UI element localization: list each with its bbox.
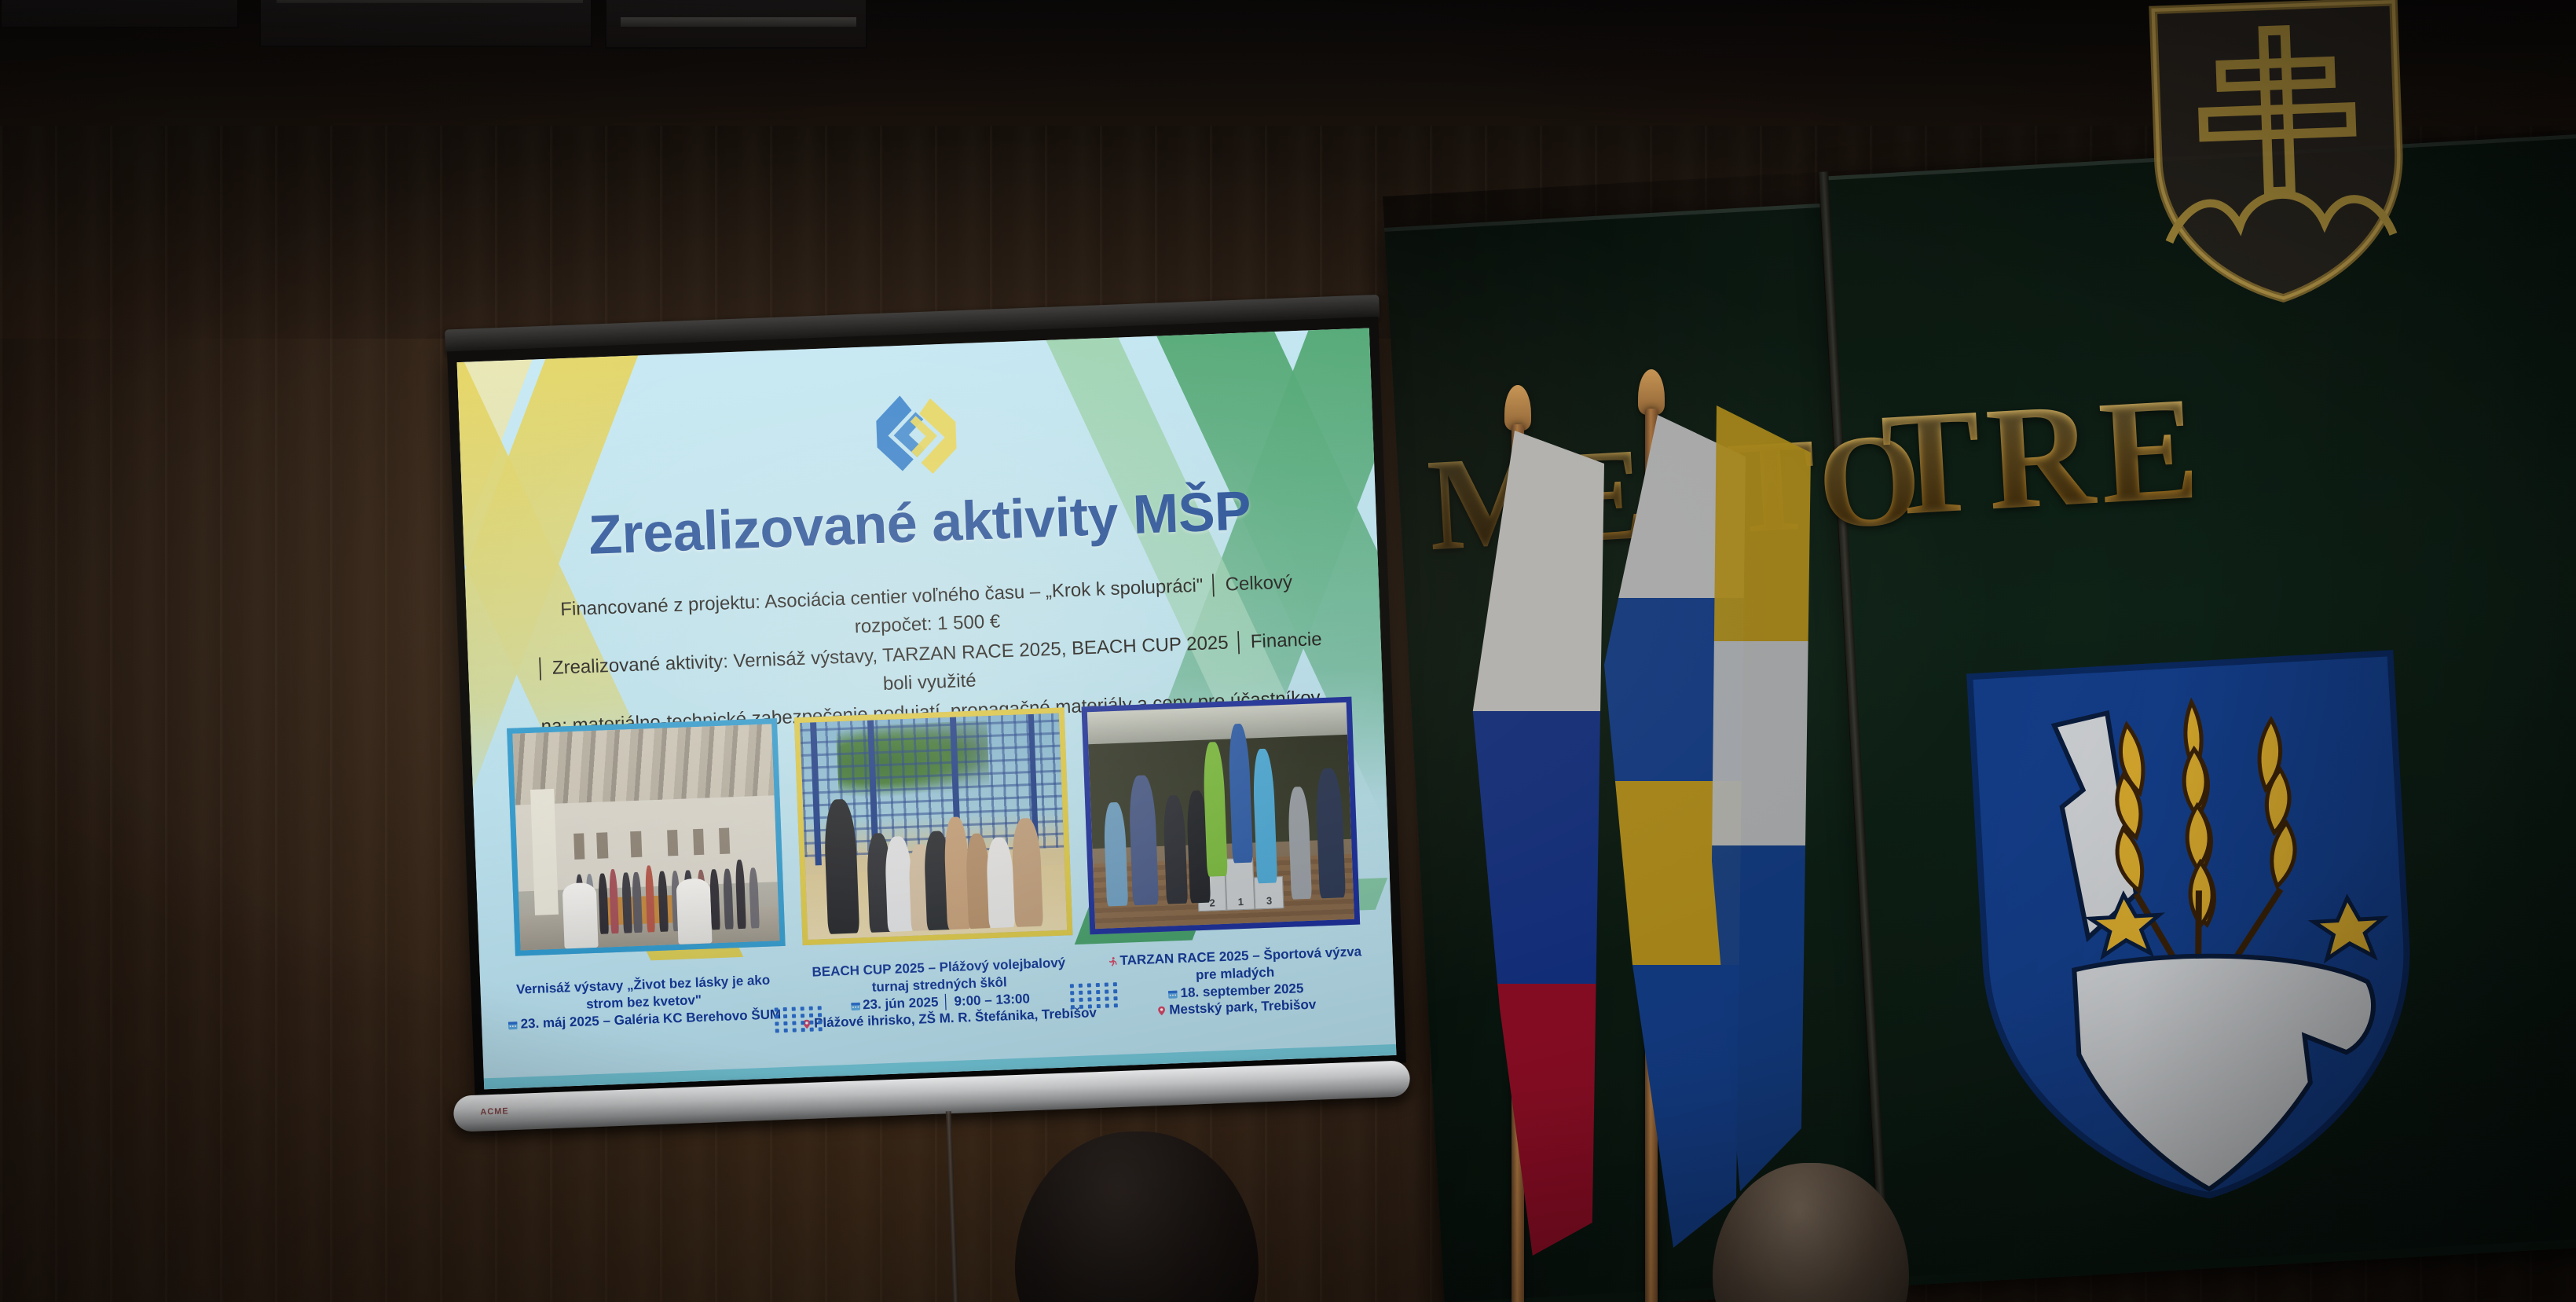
photo-of-conference-room: MESTO TRE — [0, 0, 2576, 1302]
scene-vignette — [0, 0, 2576, 1302]
